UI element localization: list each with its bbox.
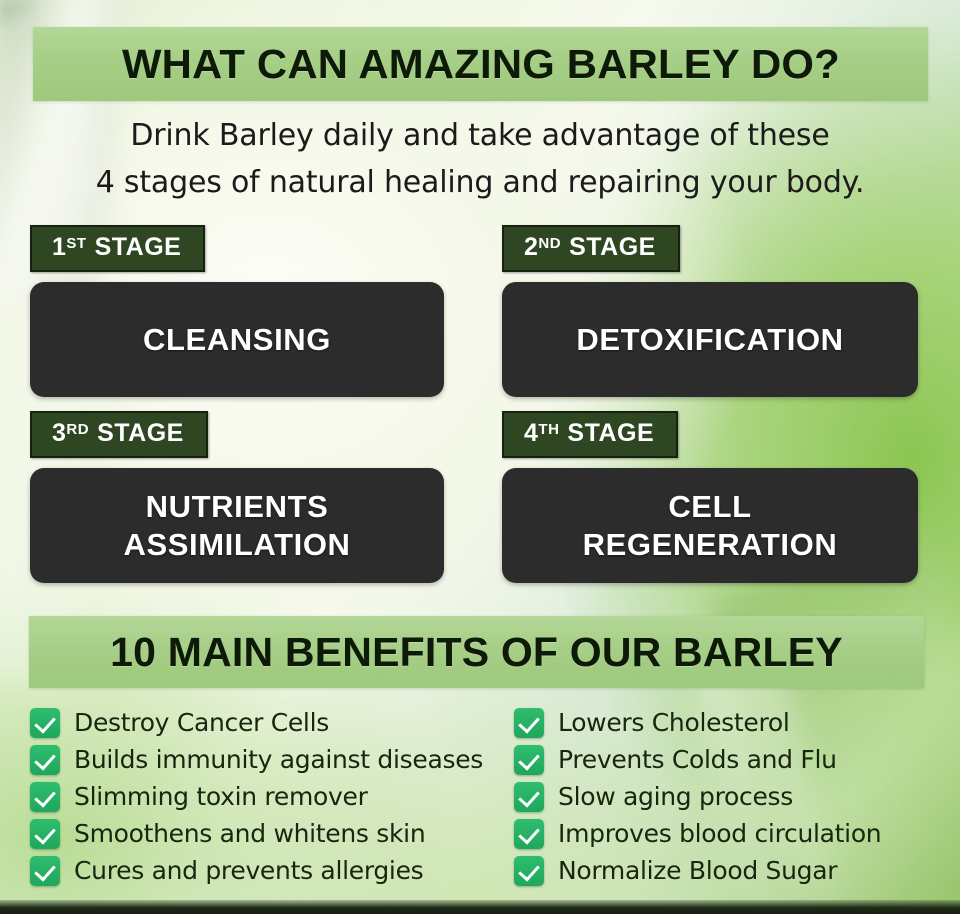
check-square-icon — [30, 819, 60, 849]
infographic-poster: WHAT CAN AMAZING BARLEY DO? Drink Barley… — [0, 0, 960, 914]
check-square-icon — [30, 856, 60, 886]
check-square-icon — [514, 745, 544, 775]
subtitle-line-1: Drink Barley daily and take advantage of… — [0, 112, 960, 159]
stage-name-1: CLEANSING — [143, 321, 331, 359]
list-item: Slimming toxin remover — [30, 778, 500, 815]
stage-name-3: NUTRIENTS ASSIMILATION — [123, 488, 350, 564]
check-square-icon — [514, 856, 544, 886]
stage-ordinal-number-1: 1 — [52, 235, 66, 260]
stage-ordinal-number-4: 4 — [524, 421, 538, 446]
benefit-label: Slimming toxin remover — [74, 782, 368, 812]
stage-name-4: CELL REGENERATION — [583, 488, 838, 564]
stage-tag-4: 4THSTAGE — [502, 411, 678, 458]
stage-tag-2: 2NDSTAGE — [502, 225, 680, 272]
benefits-list-left: Destroy Cancer Cells Builds immunity aga… — [30, 704, 500, 889]
stage-ordinal-suffix-2: ND — [538, 236, 561, 251]
stage-ordinal-suffix-3: RD — [66, 422, 89, 437]
list-item: Prevents Colds and Flu — [514, 741, 954, 778]
list-item: Smoothens and whitens skin — [30, 815, 500, 852]
list-item: Normalize Blood Sugar — [514, 852, 954, 889]
benefit-label: Cures and prevents allergies — [74, 856, 423, 886]
check-square-icon — [514, 708, 544, 738]
page-title: WHAT CAN AMAZING BARLEY DO? — [122, 41, 840, 88]
subtitle-block: Drink Barley daily and take advantage of… — [0, 112, 960, 206]
stage-word-3: STAGE — [97, 421, 184, 446]
stage-tag-3: 3RDSTAGE — [30, 411, 208, 458]
benefit-label: Builds immunity against diseases — [74, 745, 483, 775]
stage-box-4: CELL REGENERATION — [502, 468, 918, 583]
check-square-icon — [30, 782, 60, 812]
stage-word-4: STAGE — [567, 421, 654, 446]
stage-box-2: DETOXIFICATION — [502, 282, 918, 397]
bottom-edge-band — [0, 900, 960, 914]
benefits-list-right: Lowers Cholesterol Prevents Colds and Fl… — [514, 704, 954, 889]
benefit-label: Normalize Blood Sugar — [558, 856, 837, 886]
check-square-icon — [514, 782, 544, 812]
benefit-label: Smoothens and whitens skin — [74, 819, 425, 849]
list-item: Slow aging process — [514, 778, 954, 815]
subtitle-line-2: 4 stages of natural healing and repairin… — [0, 159, 960, 206]
stage-card-1: 1STSTAGE CLEANSING — [30, 225, 444, 397]
stage-ordinal-number-3: 3 — [52, 421, 66, 446]
stage-box-1: CLEANSING — [30, 282, 444, 397]
benefits-banner: 10 MAIN BENEFITS OF OUR BARLEY — [29, 616, 924, 688]
stage-ordinal-suffix-1: ST — [66, 236, 86, 251]
benefit-label: Lowers Cholesterol — [558, 708, 790, 738]
stage-ordinal-suffix-4: TH — [538, 422, 559, 437]
stage-ordinal-number-2: 2 — [524, 235, 538, 260]
check-square-icon — [30, 708, 60, 738]
stage-card-3: 3RDSTAGE NUTRIENTS ASSIMILATION — [30, 411, 444, 583]
list-item: Destroy Cancer Cells — [30, 704, 500, 741]
stage-word-1: STAGE — [95, 235, 182, 260]
list-item: Lowers Cholesterol — [514, 704, 954, 741]
benefit-label: Prevents Colds and Flu — [558, 745, 837, 775]
stage-tag-1: 1STSTAGE — [30, 225, 205, 272]
stage-name-2: DETOXIFICATION — [576, 321, 843, 359]
stage-word-2: STAGE — [569, 235, 656, 260]
stage-card-4: 4THSTAGE CELL REGENERATION — [502, 411, 918, 583]
benefit-label: Slow aging process — [558, 782, 793, 812]
benefits-heading: 10 MAIN BENEFITS OF OUR BARLEY — [110, 629, 843, 676]
list-item: Improves blood circulation — [514, 815, 954, 852]
benefit-label: Improves blood circulation — [558, 819, 881, 849]
benefit-label: Destroy Cancer Cells — [74, 708, 329, 738]
list-item: Cures and prevents allergies — [30, 852, 500, 889]
check-square-icon — [30, 745, 60, 775]
stage-box-3: NUTRIENTS ASSIMILATION — [30, 468, 444, 583]
list-item: Builds immunity against diseases — [30, 741, 500, 778]
header-banner: WHAT CAN AMAZING BARLEY DO? — [33, 27, 928, 101]
stage-card-2: 2NDSTAGE DETOXIFICATION — [502, 225, 918, 397]
check-square-icon — [514, 819, 544, 849]
